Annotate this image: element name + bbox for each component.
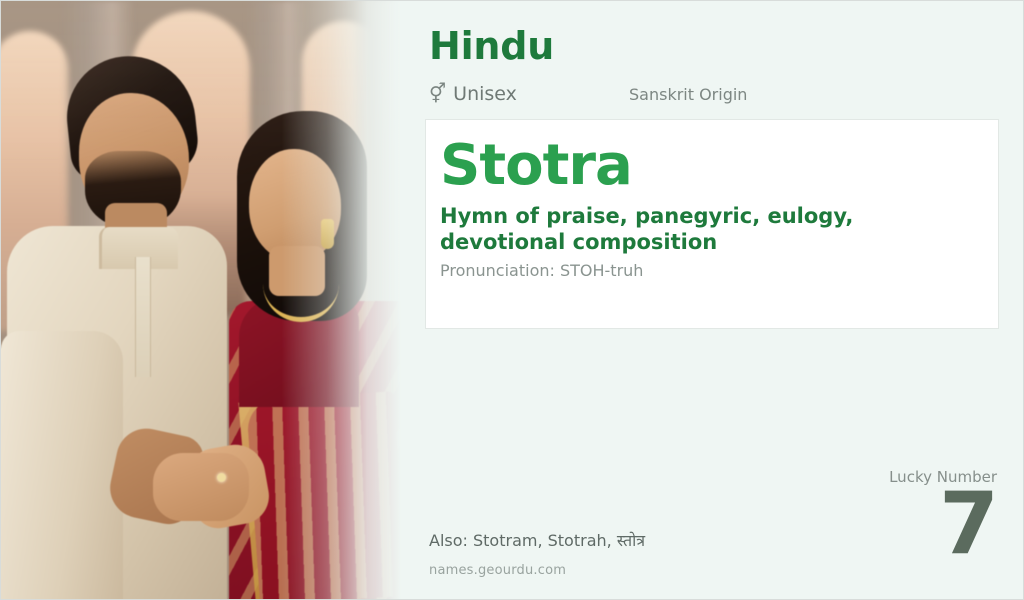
name-meaning-card-page: Hindu ⚥ Unisex Sanskrit Origin Stotra Hy… [0, 0, 1024, 600]
religion-title: Hindu [429, 27, 554, 65]
source-watermark: names.geourdu.com [429, 563, 566, 578]
man-kurta-placket [135, 257, 151, 377]
saree-pallu [246, 391, 401, 600]
name-meaning: Hymn of praise, panegyric, eulogy, devot… [440, 203, 940, 256]
unisex-icon: ⚥ [429, 85, 446, 104]
photo-background [1, 1, 401, 600]
hero-photo [1, 1, 401, 600]
woman-earring [321, 219, 334, 249]
ring [217, 473, 226, 482]
lucky-number-block: Lucky Number 7 [889, 470, 997, 563]
name-title: Stotra [440, 138, 982, 194]
alternate-spellings: Also: Stotram, Stotrah, स्तोत्र [429, 529, 645, 551]
name-pronunciation: Pronunciation: STOH-truh [440, 261, 982, 280]
clasped-hands [153, 453, 249, 521]
lucky-number-value: 7 [889, 487, 997, 563]
gender-label: Unisex [453, 83, 517, 105]
origin-label: Sanskrit Origin [629, 85, 747, 104]
alternate-spellings-text: Also: Stotram, Stotrah, स्तोत्र [429, 531, 645, 550]
man-sleeve [1, 331, 123, 600]
name-meta-row: ⚥ Unisex Sanskrit Origin [429, 83, 747, 105]
content-panel: Hindu ⚥ Unisex Sanskrit Origin Stotra Hy… [397, 1, 1024, 600]
gender-group: ⚥ Unisex [429, 83, 629, 105]
name-detail-card: Stotra Hymn of praise, panegyric, eulogy… [425, 119, 999, 329]
